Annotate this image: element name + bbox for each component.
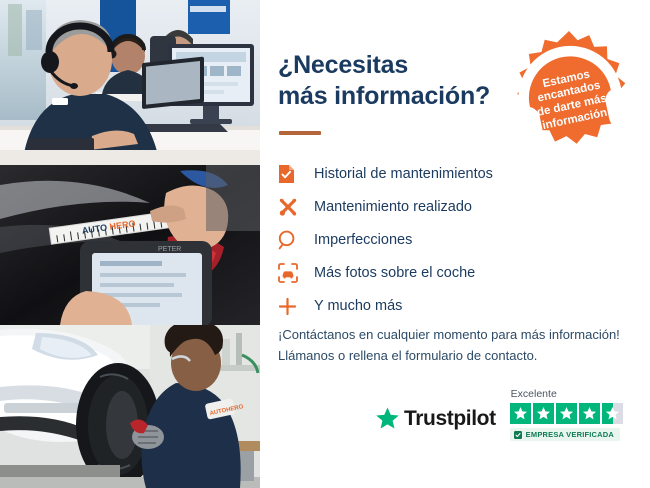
- headline-line-2: más información?: [278, 81, 528, 112]
- car-inspection-ruler-photo: AUTO HERO PETER: [0, 165, 260, 325]
- magnifier-icon: [278, 229, 304, 251]
- car-scan-icon: [278, 262, 304, 284]
- plus-icon: [278, 295, 304, 317]
- verified-company-badge: EMPRESA VERIFICADA: [510, 428, 620, 441]
- contact-paragraph-line-2: Llámanos o rellena el formulario de cont…: [278, 345, 638, 366]
- call-center-agent-photo: [0, 0, 260, 165]
- feature-list: Historial de mantenimientos M: [278, 158, 608, 323]
- star-filled-3: [556, 403, 577, 424]
- contact-paragraph-line-1: ¡Contáctanos en cualquier momento para m…: [278, 324, 638, 345]
- page-title: ¿Necesitas más información?: [278, 50, 528, 111]
- trustpilot-rating-label: Excelente: [511, 388, 557, 400]
- document-check-icon: [278, 163, 304, 185]
- trustpilot-star-row: [510, 403, 623, 424]
- feature-item-maintenance-done: Mantenimiento realizado: [278, 191, 608, 223]
- feature-label: Mantenimiento realizado: [314, 199, 472, 215]
- verified-check-icon: [514, 431, 522, 439]
- headline-line-1: ¿Necesitas: [278, 51, 408, 79]
- star-half-5: [602, 403, 623, 424]
- feature-label: Imperfecciones: [314, 232, 412, 248]
- feature-label: Y mucho más: [314, 298, 402, 314]
- info-promo-card: AUTO HERO PETER: [0, 0, 650, 488]
- mechanic-wheel-photo: AUTOHERO: [0, 325, 260, 488]
- wrench-screwdriver-icon: [278, 196, 304, 218]
- contact-paragraph: ¡Contáctanos en cualquier momento para m…: [278, 324, 638, 366]
- feature-item-maintenance-history: Historial de mantenimientos: [278, 158, 608, 190]
- photo-column: AUTO HERO PETER: [0, 0, 260, 488]
- trustpilot-rating[interactable]: Trustpilot Excelente: [375, 388, 623, 441]
- title-divider: [279, 131, 321, 135]
- trustpilot-score-block: Excelente: [510, 388, 623, 441]
- starburst-badge-shape: [505, 28, 633, 156]
- svg-text:PETER: PETER: [158, 246, 181, 253]
- verified-company-label: EMPRESA VERIFICADA: [526, 430, 614, 439]
- feature-label: Más fotos sobre el coche: [314, 265, 475, 281]
- feature-item-imperfections: Imperfecciones: [278, 224, 608, 256]
- star-filled-1: [510, 403, 531, 424]
- feature-item-more-photos: Más fotos sobre el coche: [278, 257, 608, 289]
- car-inspection-illustration: AUTO HERO PETER: [0, 165, 260, 325]
- content-panel: ¿Necesitas más información? Estamos enca…: [260, 0, 650, 488]
- call-center-agent-illustration: [0, 0, 260, 165]
- trustpilot-star-icon: [375, 406, 400, 431]
- info-badge: Estamos encantados de darte más informac…: [505, 28, 633, 156]
- star-filled-2: [533, 403, 554, 424]
- feature-item-much-more: Y mucho más: [278, 290, 608, 322]
- trustpilot-logo[interactable]: Trustpilot: [375, 406, 496, 441]
- mechanic-wheel-illustration: AUTOHERO: [0, 325, 260, 488]
- feature-label: Historial de mantenimientos: [314, 166, 493, 182]
- trustpilot-wordmark: Trustpilot: [404, 407, 496, 431]
- star-filled-4: [579, 403, 600, 424]
